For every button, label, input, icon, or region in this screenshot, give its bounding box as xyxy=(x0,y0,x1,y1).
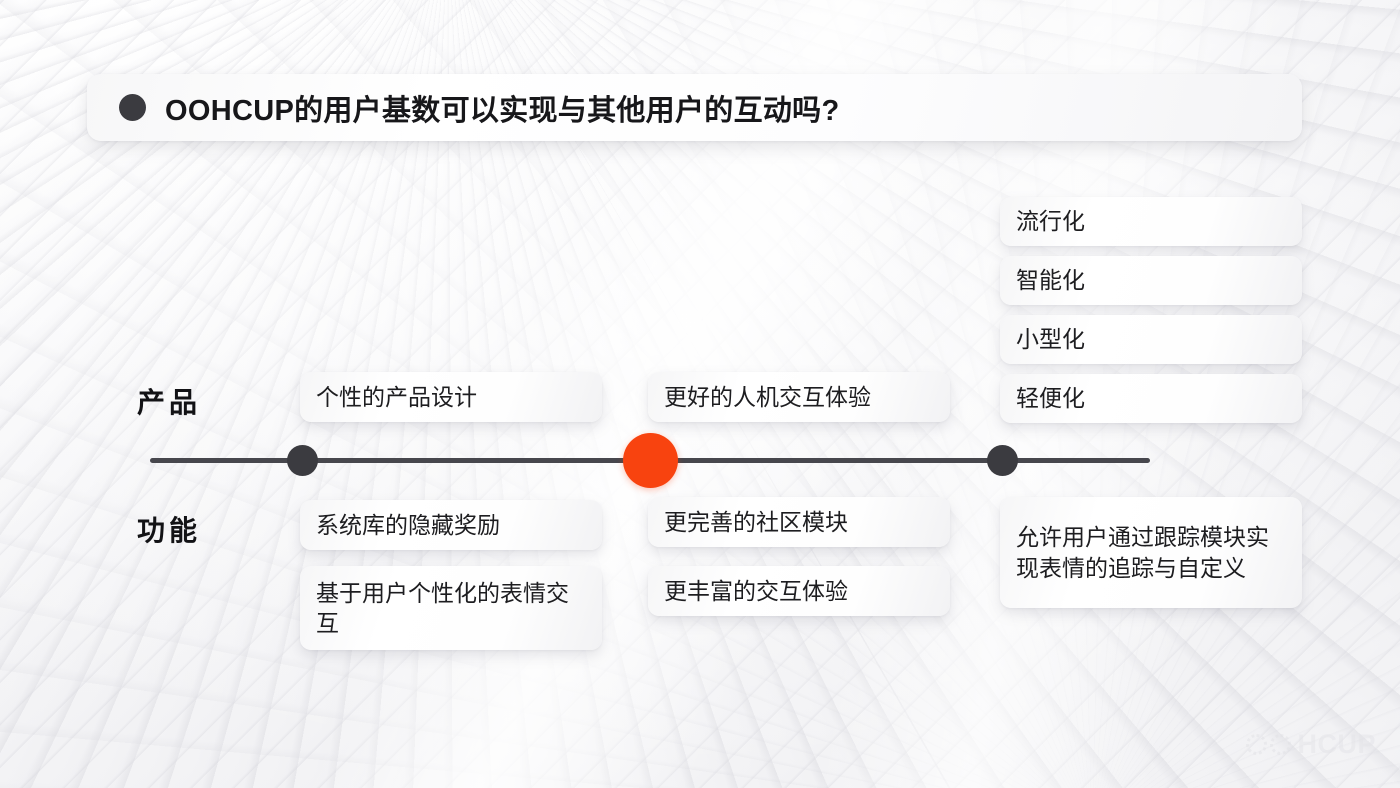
stage-dot-left[interactable] xyxy=(287,445,318,476)
trend-card[interactable]: 轻便化 xyxy=(1000,374,1302,423)
slide-canvas: OOHCUP的用户基数可以实现与其他用户的互动吗? 流行化 智能化 小型化 轻便… xyxy=(0,0,1400,788)
trend-card-label: 小型化 xyxy=(1016,324,1085,354)
stage-dot-center[interactable] xyxy=(623,433,678,488)
function-card[interactable]: 更丰富的交互体验 xyxy=(648,566,950,616)
function-card-label: 更丰富的交互体验 xyxy=(664,576,848,606)
dotted-circle-icon xyxy=(1270,734,1291,755)
function-card[interactable]: 允许用户通过跟踪模块实现表情的追踪与自定义 xyxy=(1000,497,1302,608)
function-card[interactable]: 系统库的隐藏奖励 xyxy=(300,500,602,550)
function-card-label: 基于用户个性化的表情交互 xyxy=(316,578,586,639)
function-card-label: 允许用户通过跟踪模块实现表情的追踪与自定义 xyxy=(1016,522,1286,583)
row-label-function: 功能 xyxy=(137,509,201,549)
function-card[interactable]: 基于用户个性化的表情交互 xyxy=(300,566,602,650)
stage-dot-right[interactable] xyxy=(987,445,1018,476)
slide-title-bar: OOHCUP的用户基数可以实现与其他用户的互动吗? xyxy=(87,74,1302,141)
brand-watermark: HCUP xyxy=(1246,729,1376,760)
product-card-label: 个性的产品设计 xyxy=(316,382,477,412)
product-card[interactable]: 个性的产品设计 xyxy=(300,372,602,422)
trend-card[interactable]: 智能化 xyxy=(1000,256,1302,305)
page-title: OOHCUP的用户基数可以实现与其他用户的互动吗? xyxy=(165,87,840,129)
trend-card[interactable]: 流行化 xyxy=(1000,197,1302,246)
brand-watermark-text: HCUP xyxy=(1297,729,1376,760)
function-card[interactable]: 更完善的社区模块 xyxy=(648,497,950,547)
filled-circle-icon xyxy=(119,94,146,121)
function-card-label: 系统库的隐藏奖励 xyxy=(316,510,500,540)
row-label-product: 产品 xyxy=(137,381,201,421)
product-card-label: 更好的人机交互体验 xyxy=(664,382,871,412)
function-card-label: 更完善的社区模块 xyxy=(664,507,848,537)
trend-card-label: 智能化 xyxy=(1016,265,1085,295)
trend-card[interactable]: 小型化 xyxy=(1000,315,1302,364)
trend-card-label: 流行化 xyxy=(1016,206,1085,236)
product-card[interactable]: 更好的人机交互体验 xyxy=(648,372,950,422)
dotted-circle-icon xyxy=(1246,734,1267,755)
trend-card-label: 轻便化 xyxy=(1016,383,1085,413)
